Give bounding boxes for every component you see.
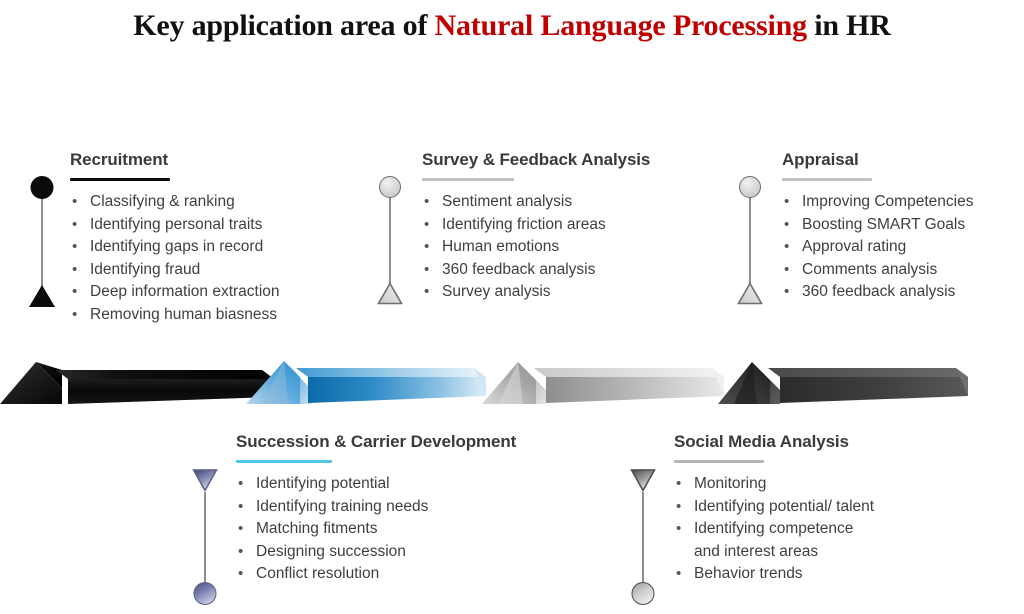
page-title: Key application area of Natural Language…: [0, 9, 1024, 43]
column-recruitment: Recruitment •Classifying & ranking •Iden…: [70, 150, 360, 326]
column-heading: Survey & Feedback Analysis: [422, 150, 722, 170]
connector-stem: [749, 198, 751, 292]
list-item-label: Monitoring: [694, 475, 766, 492]
column-heading: Succession & Carrier Development: [236, 432, 576, 452]
list-item: •Improving Competencies: [782, 191, 1024, 214]
connector-social-media-analysis: [628, 468, 658, 606]
bullet-icon: •: [424, 281, 429, 304]
connector-stem: [642, 492, 644, 582]
list-item-label: Identifying gaps in record: [90, 238, 263, 255]
bullet-icon: •: [72, 304, 77, 327]
list-item-continuation: and interest areas: [674, 541, 1004, 564]
list-item: •Survey analysis: [422, 281, 722, 304]
marker-circle-dark: [632, 582, 655, 605]
list-item: •Identifying potential: [236, 473, 576, 496]
list-item-label: Behavior trends: [694, 565, 803, 582]
list-item: •Identifying friction areas: [422, 214, 722, 237]
marker-triangle-down-blue: [192, 468, 218, 492]
title-part-accent: Natural Language Processing: [435, 9, 807, 42]
connector-recruitment: [26, 176, 58, 308]
list-item: •Identifying competence: [674, 518, 1004, 541]
column-survey-feedback-analysis: Survey & Feedback Analysis •Sentiment an…: [422, 150, 722, 304]
connector-appraisal: [736, 176, 764, 306]
bullet-icon: •: [784, 259, 789, 282]
list-item-label: Deep information extraction: [90, 283, 280, 300]
bullet-icon: •: [238, 496, 243, 519]
title-part-post: in HR: [807, 9, 891, 42]
column-rule: [236, 460, 332, 463]
list-item-label: Boosting SMART Goals: [802, 216, 965, 233]
column-heading: Social Media Analysis: [674, 432, 1004, 452]
bullet-icon: •: [676, 496, 681, 519]
connector-stem: [204, 492, 206, 582]
bullet-icon: •: [676, 518, 681, 541]
infographic-canvas: Key application area of Natural Language…: [0, 0, 1024, 614]
column-item-list: •Identifying potential •Identifying trai…: [236, 473, 576, 586]
title-part-pre: Key application area of: [133, 9, 434, 42]
bullet-icon: •: [424, 236, 429, 259]
list-item-label: Identifying competence: [694, 520, 853, 537]
bullet-icon: •: [784, 236, 789, 259]
list-item-label: Classifying & ranking: [90, 193, 235, 210]
list-item: •Comments analysis: [782, 259, 1024, 282]
bullet-icon: •: [784, 214, 789, 237]
marker-circle-blue: [194, 582, 217, 605]
bullet-icon: •: [238, 518, 243, 541]
bullet-icon: •: [424, 214, 429, 237]
column-heading: Appraisal: [782, 150, 1024, 170]
list-item: •Identifying training needs: [236, 496, 576, 519]
list-item-label: Identifying training needs: [256, 498, 428, 515]
list-item-label: Human emotions: [442, 238, 559, 255]
process-ribbon: [0, 352, 1024, 414]
list-item: •Approval rating: [782, 236, 1024, 259]
list-item-label: Identifying personal traits: [90, 216, 262, 233]
list-item: •Designing succession: [236, 541, 576, 564]
bullet-icon: •: [784, 191, 789, 214]
list-item: •Matching fitments: [236, 518, 576, 541]
connector-stem: [41, 198, 43, 294]
bullet-icon: •: [424, 191, 429, 214]
list-item: •Boosting SMART Goals: [782, 214, 1024, 237]
list-item-label: and interest areas: [694, 543, 818, 560]
list-item-label: Approval rating: [802, 238, 906, 255]
list-item-label: Comments analysis: [802, 261, 937, 278]
column-item-list: •Monitoring •Identifying potential/ tale…: [674, 473, 1004, 586]
list-item-label: 360 feedback analysis: [442, 261, 595, 278]
column-item-list: •Improving Competencies •Boosting SMART …: [782, 191, 1024, 304]
bullet-icon: •: [72, 281, 77, 304]
connector-stem: [389, 198, 391, 292]
list-item: •Conflict resolution: [236, 563, 576, 586]
marker-triangle-down-dark: [630, 468, 656, 492]
bullet-icon: •: [238, 541, 243, 564]
connector-survey-feedback-analysis: [376, 176, 404, 306]
list-item-label: Identifying potential: [256, 475, 390, 492]
list-item: •Monitoring: [674, 473, 1004, 496]
column-appraisal: Appraisal •Improving Competencies •Boost…: [782, 150, 1024, 304]
column-rule: [70, 178, 170, 181]
list-item: •Identifying potential/ talent: [674, 496, 1004, 519]
list-item: •Removing human biasness: [70, 304, 360, 327]
list-item-label: Conflict resolution: [256, 565, 379, 582]
list-item: •Human emotions: [422, 236, 722, 259]
column-item-list: •Classifying & ranking •Identifying pers…: [70, 191, 360, 326]
bullet-icon: •: [424, 259, 429, 282]
list-item: •Identifying fraud: [70, 259, 360, 282]
ribbon-segment-black: [0, 362, 274, 404]
column-heading: Recruitment: [70, 150, 360, 170]
marker-triangle-up-gray: [377, 282, 403, 305]
bullet-icon: •: [676, 473, 681, 496]
column-item-list: •Sentiment analysis •Identifying frictio…: [422, 191, 722, 304]
list-item: •360 feedback analysis: [422, 259, 722, 282]
list-item-label: Improving Competencies: [802, 193, 973, 210]
list-item-label: Identifying friction areas: [442, 216, 606, 233]
list-item: •Sentiment analysis: [422, 191, 722, 214]
column-rule: [782, 178, 872, 181]
marker-circle-black: [31, 176, 54, 199]
bullet-icon: •: [676, 563, 681, 586]
marker-triangle-up-gray: [737, 282, 763, 305]
list-item: •Deep information extraction: [70, 281, 360, 304]
bullet-icon: •: [72, 191, 77, 214]
bullet-icon: •: [72, 259, 77, 282]
bullet-icon: •: [72, 236, 77, 259]
column-rule: [422, 178, 514, 181]
ribbon-segment-blue: [246, 361, 486, 404]
marker-circle-gray: [739, 176, 761, 198]
list-item-label: Identifying potential/ talent: [694, 498, 874, 515]
connector-succession-carrier-development: [190, 468, 220, 606]
list-item-label: Removing human biasness: [90, 306, 277, 323]
ribbon-segment-dark-gray: [718, 362, 968, 404]
list-item: •360 feedback analysis: [782, 281, 1024, 304]
ribbon-segment-silver: [482, 362, 724, 404]
marker-triangle-up-black: [28, 284, 56, 308]
list-item: •Identifying personal traits: [70, 214, 360, 237]
list-item-label: Matching fitments: [256, 520, 377, 537]
list-item: •Identifying gaps in record: [70, 236, 360, 259]
list-item-label: Survey analysis: [442, 283, 551, 300]
column-succession-carrier-development: Succession & Carrier Development •Identi…: [236, 432, 576, 586]
bullet-icon: •: [238, 563, 243, 586]
column-social-media-analysis: Social Media Analysis •Monitoring •Ident…: [674, 432, 1004, 586]
marker-circle-gray: [379, 176, 401, 198]
bullet-icon: •: [238, 473, 243, 496]
bullet-icon: •: [72, 214, 77, 237]
list-item-label: Sentiment analysis: [442, 193, 572, 210]
column-rule: [674, 460, 764, 463]
list-item-label: Designing succession: [256, 543, 406, 560]
list-item-label: Identifying fraud: [90, 261, 200, 278]
list-item: •Classifying & ranking: [70, 191, 360, 214]
bullet-icon: •: [784, 281, 789, 304]
list-item-label: 360 feedback analysis: [802, 283, 955, 300]
list-item: •Behavior trends: [674, 563, 1004, 586]
